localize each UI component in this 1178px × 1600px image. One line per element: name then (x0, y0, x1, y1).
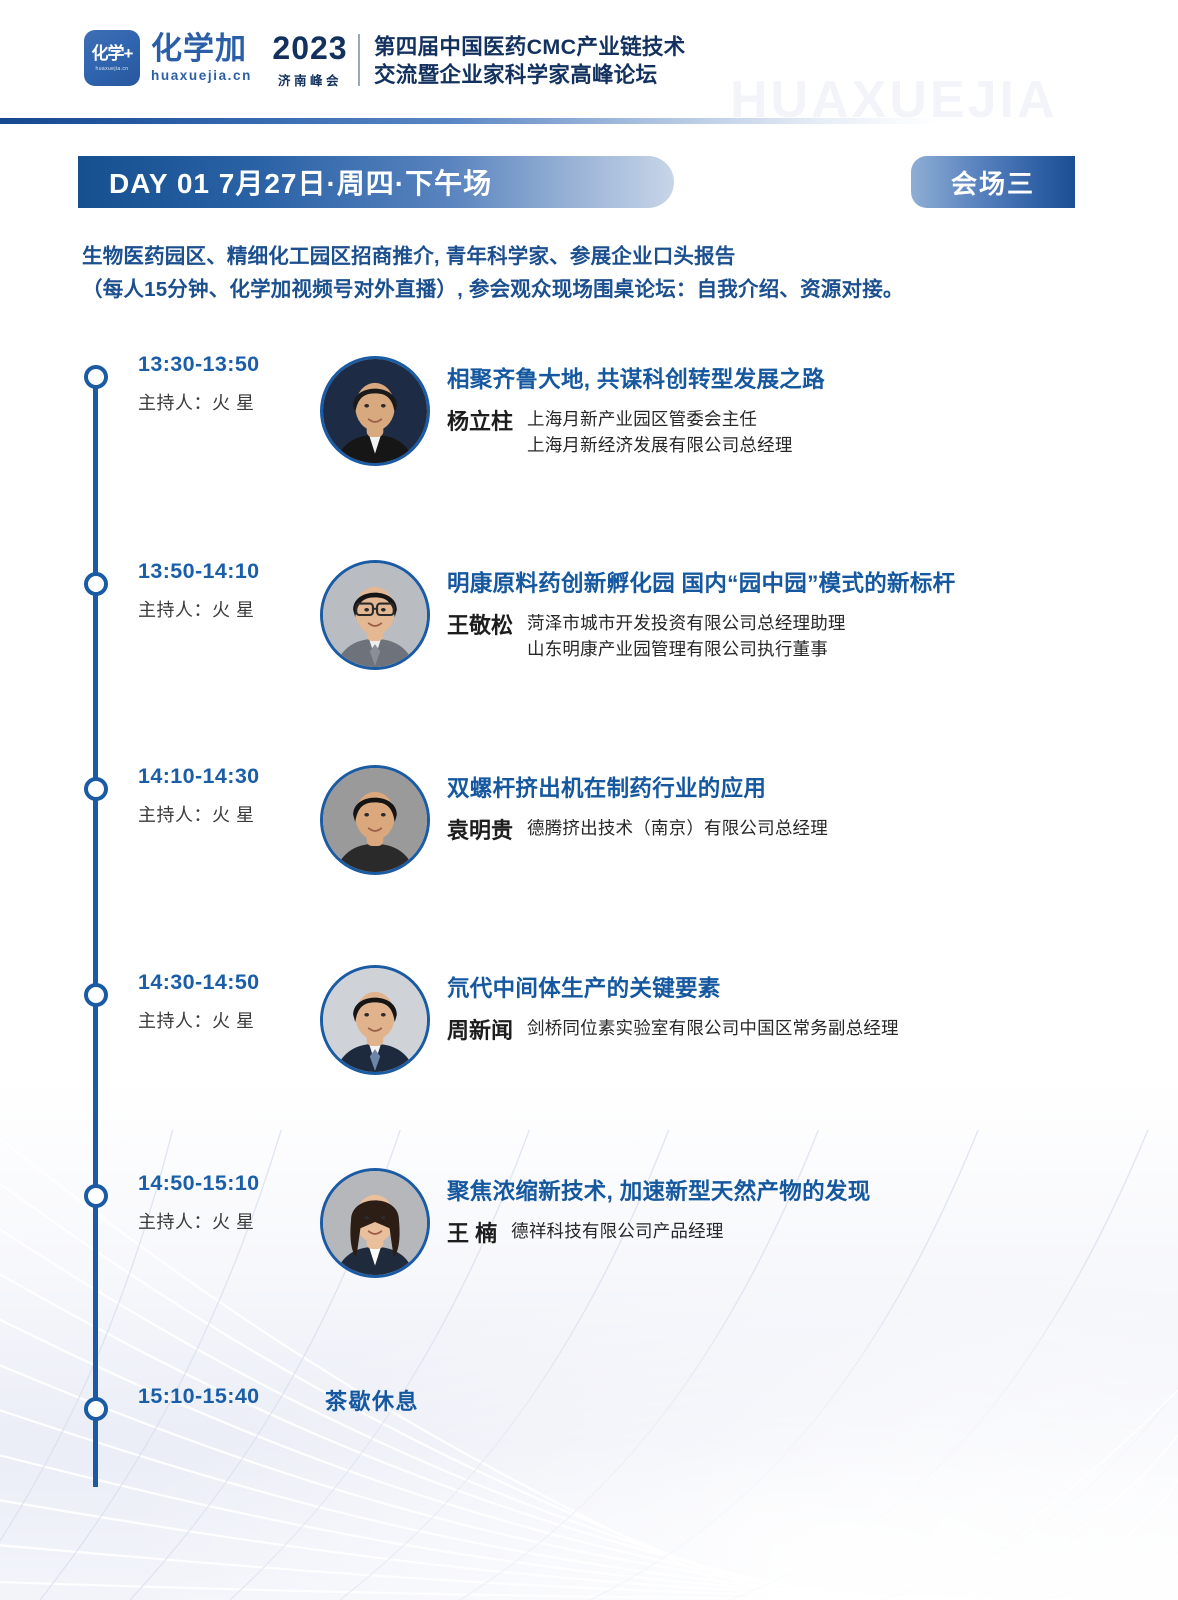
event-city-summit: 济南峰会 (256, 70, 364, 89)
speaker-affiliations: 上海月新产业园区管委会主任上海月新经济发展有限公司总经理 (527, 407, 1147, 458)
timeline-dot (84, 1397, 108, 1421)
speaker-avatar (320, 965, 430, 1075)
speaker-block: 王 楠 德祥科技有限公司产品经理 (447, 1219, 1147, 1249)
speaker-avatar (320, 1168, 430, 1278)
session-host: 主持人：火 星 (138, 596, 318, 622)
conference-agenda-poster: HUAXUEJIA 化学+ huaxuejia.cn 化学加 huaxuejia… (0, 0, 1178, 1600)
event-title-line-1: 第四届中国医药CMC产业链技术 (374, 34, 685, 62)
agenda-row[interactable]: 13:30-13:50 主持人：火 星 相聚齐鲁大地, 共谋科创转型发展之路 杨… (0, 356, 1178, 506)
speaker-affiliations: 德腾挤出技术（南京）有限公司总经理 (527, 816, 1147, 842)
brand-logo: 化学+ huaxuejia.cn 化学加 huaxuejia.cn (84, 30, 252, 86)
break-time-column: 15:10-15:40 (138, 1384, 318, 1410)
session-time: 13:30-13:50 (138, 352, 318, 378)
logo-mark-top-text: 化学+ (92, 45, 133, 62)
break-label: 茶歇休息 (325, 1384, 419, 1416)
logo-mark-bottom-text: huaxuejia.cn (96, 66, 129, 72)
timeline-dot (84, 572, 108, 596)
logo-domain: huaxuejia.cn (151, 68, 252, 83)
logo-mark-icon: 化学+ huaxuejia.cn (84, 30, 140, 86)
session-title: 双螺杆挤出机在制药行业的应用 (447, 775, 1147, 802)
logo-wordmark: 化学加 huaxuejia.cn (151, 33, 252, 84)
speaker-block: 袁明贵 德腾挤出技术（南京）有限公司总经理 (447, 816, 1147, 846)
speaker-affiliations: 菏泽市城市开发投资有限公司总经理助理山东明康产业园管理有限公司执行董事 (527, 611, 1147, 662)
event-year-block: 2023 济南峰会 (256, 32, 364, 89)
speaker-avatar (320, 560, 430, 670)
speaker-name: 王 楠 (447, 1219, 497, 1249)
watermark-text: HUAXUEJIA (730, 70, 1058, 130)
event-year: 2023 (256, 32, 364, 64)
session-host: 主持人：火 星 (138, 801, 318, 827)
session-host: 主持人：火 星 (138, 1007, 318, 1033)
session-time: 14:50-15:10 (138, 1171, 318, 1197)
session-time-column: 14:30-14:50 主持人：火 星 (138, 970, 318, 1033)
session-content: 明康原料药创新孵化园 国内“园中园”模式的新标杆 王敬松 菏泽市城市开发投资有限… (447, 570, 1147, 662)
session-title: 明康原料药创新孵化园 国内“园中园”模式的新标杆 (447, 570, 1147, 597)
agenda-list: 13:30-13:50 主持人：火 星 相聚齐鲁大地, 共谋科创转型发展之路 杨… (0, 0, 1178, 1600)
speaker-name: 袁明贵 (447, 816, 513, 846)
session-host: 主持人：火 星 (138, 1208, 318, 1234)
agenda-row[interactable]: 13:50-14:10 主持人：火 星 明康原料药创新孵化园 国内“园中园”模式… (0, 560, 1178, 710)
speaker-block: 王敬松 菏泽市城市开发投资有限公司总经理助理山东明康产业园管理有限公司执行董事 (447, 611, 1147, 662)
speaker-affiliation: 剑桥同位素实验室有限公司中国区常务副总经理 (527, 1016, 1147, 1042)
speaker-affiliation: 上海月新产业园区管委会主任 (527, 407, 1147, 433)
event-title: 第四届中国医药CMC产业链技术 交流暨企业家科学家高峰论坛 (374, 34, 685, 89)
event-title-line-2: 交流暨企业家科学家高峰论坛 (374, 62, 685, 90)
speaker-avatar (320, 356, 430, 466)
speaker-affiliation: 德祥科技有限公司产品经理 (511, 1219, 1147, 1245)
session-time-column: 14:50-15:10 主持人：火 星 (138, 1171, 318, 1234)
agenda-row[interactable]: 14:10-14:30 主持人：火 星 双螺杆挤出机在制药行业的应用 袁明贵 德… (0, 765, 1178, 915)
page-header: HUAXUEJIA 化学+ huaxuejia.cn 化学加 huaxuejia… (0, 0, 1178, 118)
speaker-affiliation: 德腾挤出技术（南京）有限公司总经理 (527, 816, 1147, 842)
speaker-name: 王敬松 (447, 611, 513, 641)
timeline-dot (84, 1184, 108, 1208)
session-host: 主持人：火 星 (138, 389, 318, 415)
speaker-affiliations: 剑桥同位素实验室有限公司中国区常务副总经理 (527, 1016, 1147, 1042)
agenda-row[interactable]: 14:50-15:10 主持人：火 星 聚焦浓缩新技术, 加速新型天然产物的发现… (0, 1168, 1178, 1318)
session-title: 氘代中间体生产的关键要素 (447, 975, 1147, 1002)
break-time: 15:10-15:40 (138, 1384, 318, 1410)
speaker-affiliation: 山东明康产业园管理有限公司执行董事 (527, 637, 1147, 663)
speaker-name: 杨立柱 (447, 407, 513, 437)
session-time-column: 14:10-14:30 主持人：火 星 (138, 764, 318, 827)
session-time: 13:50-14:10 (138, 559, 318, 585)
session-time-column: 13:50-14:10 主持人：火 星 (138, 559, 318, 622)
session-content: 双螺杆挤出机在制药行业的应用 袁明贵 德腾挤出技术（南京）有限公司总经理 (447, 775, 1147, 846)
agenda-row-break[interactable]: 15:10-15:40 茶歇休息 (0, 1383, 1178, 1443)
speaker-name: 周新闻 (447, 1016, 513, 1046)
header-divider (358, 34, 360, 86)
timeline-dot (84, 365, 108, 389)
session-content: 氘代中间体生产的关键要素 周新闻 剑桥同位素实验室有限公司中国区常务副总经理 (447, 975, 1147, 1046)
agenda-row[interactable]: 14:30-14:50 主持人：火 星 氘代中间体生产的关键要素 周新闻 剑桥同… (0, 965, 1178, 1115)
session-content: 聚焦浓缩新技术, 加速新型天然产物的发现 王 楠 德祥科技有限公司产品经理 (447, 1178, 1147, 1249)
speaker-affiliation: 上海月新经济发展有限公司总经理 (527, 433, 1147, 459)
session-time: 14:10-14:30 (138, 764, 318, 790)
speaker-avatar (320, 765, 430, 875)
session-time: 14:30-14:50 (138, 970, 318, 996)
speaker-block: 杨立柱 上海月新产业园区管委会主任上海月新经济发展有限公司总经理 (447, 407, 1147, 458)
timeline-dot (84, 983, 108, 1007)
session-title: 相聚齐鲁大地, 共谋科创转型发展之路 (447, 366, 1147, 393)
logo-chinese-name: 化学加 (151, 33, 252, 66)
session-time-column: 13:30-13:50 主持人：火 星 (138, 352, 318, 415)
speaker-affiliations: 德祥科技有限公司产品经理 (511, 1219, 1147, 1245)
speaker-block: 周新闻 剑桥同位素实验室有限公司中国区常务副总经理 (447, 1016, 1147, 1046)
speaker-affiliation: 菏泽市城市开发投资有限公司总经理助理 (527, 611, 1147, 637)
session-content: 相聚齐鲁大地, 共谋科创转型发展之路 杨立柱 上海月新产业园区管委会主任上海月新… (447, 366, 1147, 458)
timeline-dot (84, 777, 108, 801)
session-title: 聚焦浓缩新技术, 加速新型天然产物的发现 (447, 1178, 1147, 1205)
